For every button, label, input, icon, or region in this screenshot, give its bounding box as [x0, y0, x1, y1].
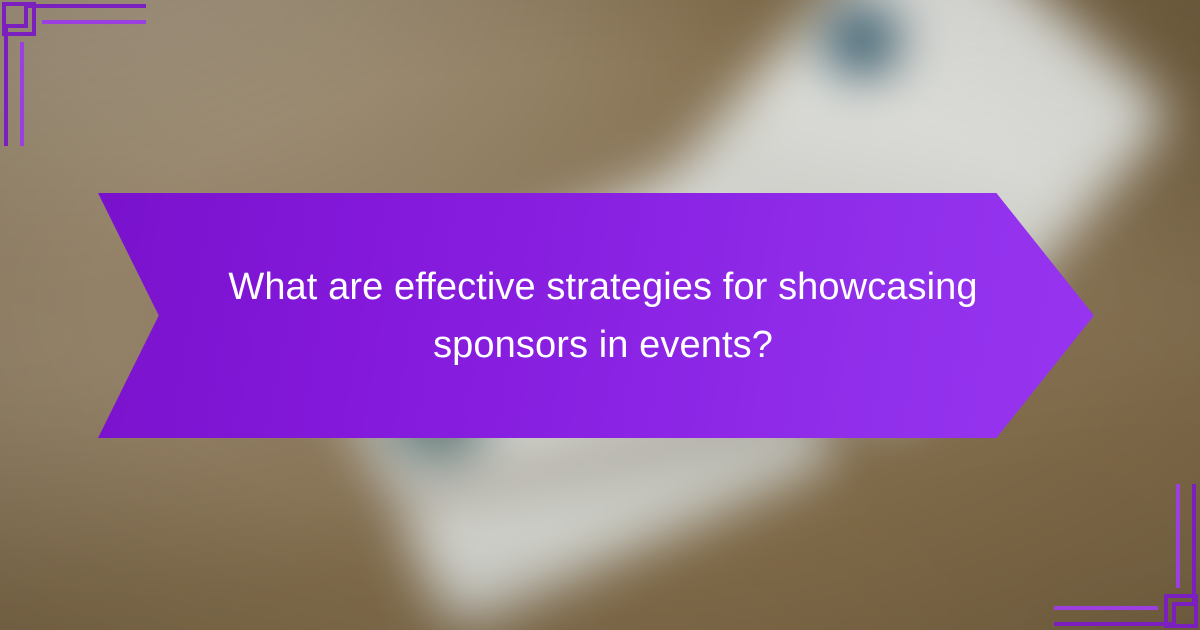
corner-bracket-icon	[1050, 480, 1200, 630]
headline-banner: What are effective strategies for showca…	[98, 193, 1094, 438]
poster-canvas: What are effective strategies for showca…	[0, 0, 1200, 630]
corner-bracket-icon	[0, 0, 150, 150]
corner-bracket-top-left	[0, 0, 150, 150]
corner-bracket-bottom-right	[1050, 480, 1200, 630]
headline-line-2: sponsors in events?	[433, 324, 773, 366]
headline-text-block: What are effective strategies for showca…	[209, 258, 983, 374]
headline-line-1: What are effective strategies for showca…	[228, 266, 977, 308]
